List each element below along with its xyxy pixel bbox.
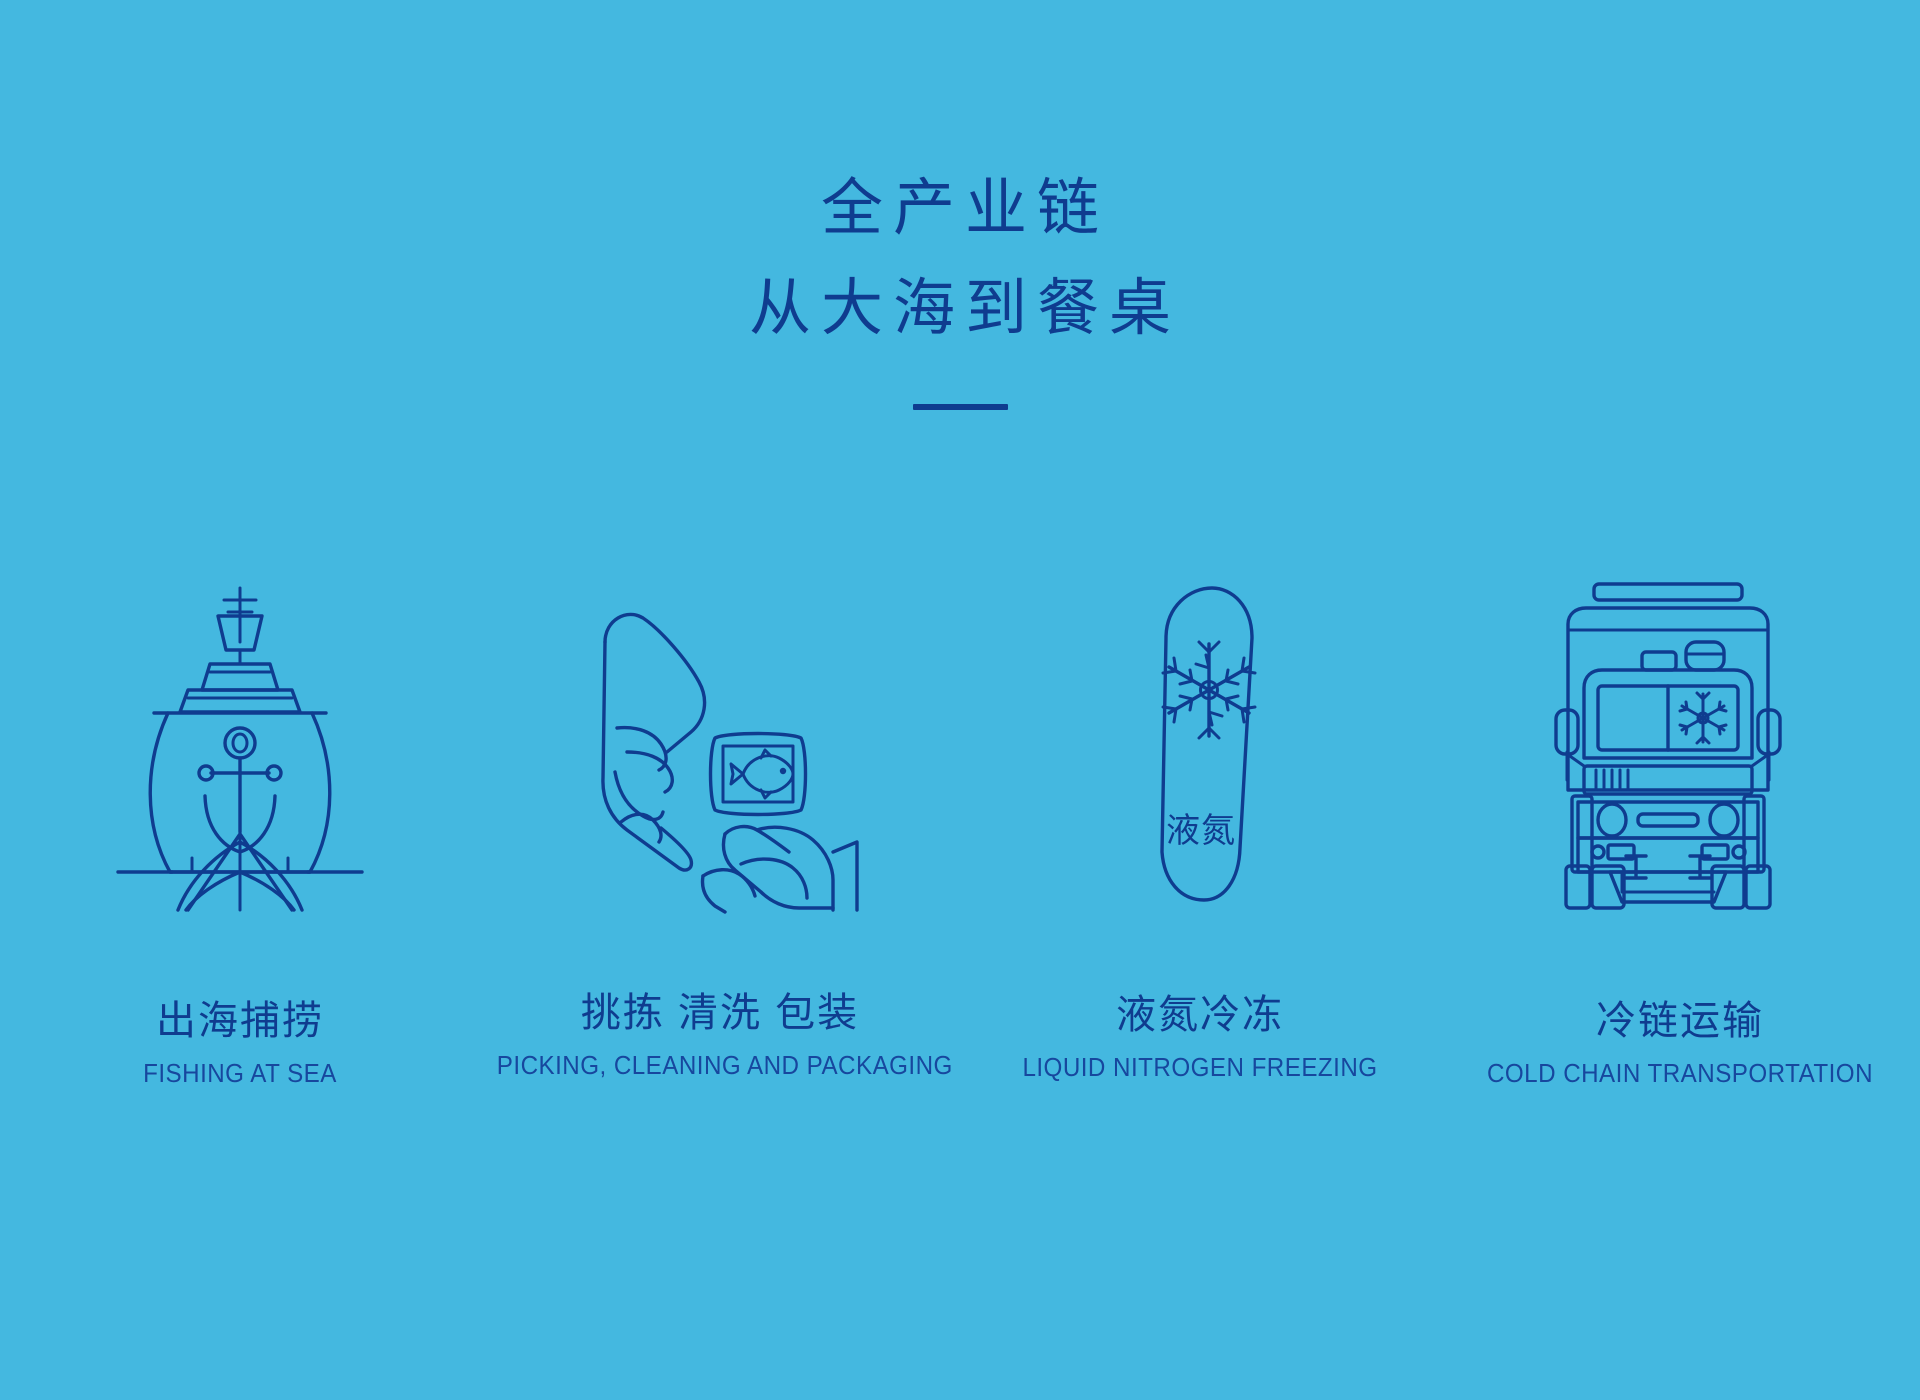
step-1-label-cn: 出海捕捞 bbox=[0, 1000, 480, 1042]
step-3-labels: 液氮冷冻 LIQUID NITROGEN FREEZING bbox=[960, 994, 1440, 1081]
page-title-line-1: 全产业链 bbox=[0, 178, 1920, 240]
step-4-label-en: COLD CHAIN TRANSPORTATION bbox=[1457, 1060, 1903, 1087]
step-3-label-cn: 液氮冷冻 bbox=[960, 994, 1440, 1036]
snowflake-icon bbox=[1163, 642, 1255, 738]
step-2-label-cn: 挑拣 清洗 包装 bbox=[480, 992, 960, 1034]
page-title-line-2: 从大海到餐桌 bbox=[0, 278, 1920, 340]
step-4-label-cn: 冷链运输 bbox=[1440, 1000, 1920, 1042]
tank-label-text: 液氮 bbox=[1166, 812, 1236, 850]
step-2-labels: 挑拣 清洗 包装 PICKING, CLEANING AND PACKAGING bbox=[480, 992, 960, 1079]
step-cold-chain-transportation: 冷链运输 COLD CHAIN TRANSPORTATION bbox=[1440, 520, 1920, 1087]
page-root: 全产业链 从大海到餐桌 bbox=[0, 0, 1920, 1400]
fishing-boat-icon bbox=[110, 580, 370, 910]
process-steps-row: 出海捕捞 FISHING AT SEA bbox=[0, 520, 1920, 1087]
step-4-icon-box bbox=[1550, 520, 1810, 918]
step-2-label-en: PICKING, CLEANING AND PACKAGING bbox=[497, 1052, 943, 1079]
title-divider bbox=[913, 404, 1008, 410]
refrigerated-truck-icon bbox=[1550, 580, 1810, 910]
step-1-icon-box bbox=[110, 520, 370, 918]
grille-slats bbox=[1596, 770, 1628, 790]
page-header: 全产业链 从大海到餐桌 bbox=[0, 0, 1920, 410]
step-1-labels: 出海捕捞 FISHING AT SEA bbox=[0, 1000, 480, 1087]
hands-with-fish-package-icon bbox=[575, 580, 865, 910]
step-3-label-en: LIQUID NITROGEN FREEZING bbox=[977, 1054, 1423, 1081]
title-divider-wrap bbox=[0, 404, 1920, 410]
snowflake-icon bbox=[1680, 693, 1726, 743]
step-2-icon-box bbox=[575, 520, 865, 910]
step-fishing-at-sea: 出海捕捞 FISHING AT SEA bbox=[0, 520, 480, 1087]
step-1-label-en: FISHING AT SEA bbox=[17, 1060, 463, 1087]
step-picking-cleaning-packaging: 挑拣 清洗 包装 PICKING, CLEANING AND PACKAGING bbox=[480, 520, 960, 1079]
step-liquid-nitrogen-freezing: 液氮 液氮冷冻 LIQUID NITROGEN FREEZING bbox=[960, 520, 1440, 1081]
step-4-labels: 冷链运输 COLD CHAIN TRANSPORTATION bbox=[1440, 1000, 1920, 1087]
liquid-nitrogen-tank-icon: 液氮 bbox=[1120, 580, 1280, 910]
step-3-icon-box: 液氮 bbox=[1120, 520, 1280, 912]
